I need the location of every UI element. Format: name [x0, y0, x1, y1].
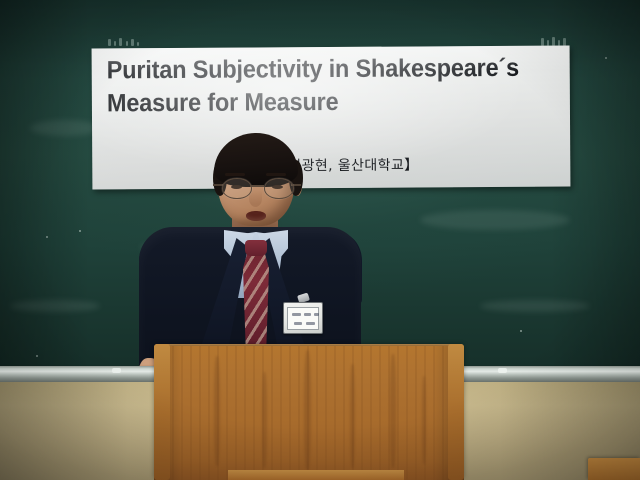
- podium: [154, 346, 464, 480]
- nose: [249, 190, 262, 207]
- glasses-lens-right: [264, 178, 294, 199]
- eyebrow-left: [225, 173, 245, 176]
- glasses-bridge: [250, 185, 264, 187]
- podium-post-right: [448, 344, 464, 480]
- podium-post-left: [154, 344, 170, 480]
- glasses-lens-left: [222, 178, 252, 199]
- name-badge-inner: [287, 307, 319, 330]
- eyebrow-right: [266, 173, 286, 176]
- name-badge: [283, 302, 323, 334]
- necktie-knot: [245, 240, 267, 256]
- side-furniture: [588, 458, 640, 480]
- podium-lower-ledge: [228, 470, 404, 480]
- photograph-scene: Puritan Subjectivity in Shakespeare´s Me…: [0, 0, 640, 480]
